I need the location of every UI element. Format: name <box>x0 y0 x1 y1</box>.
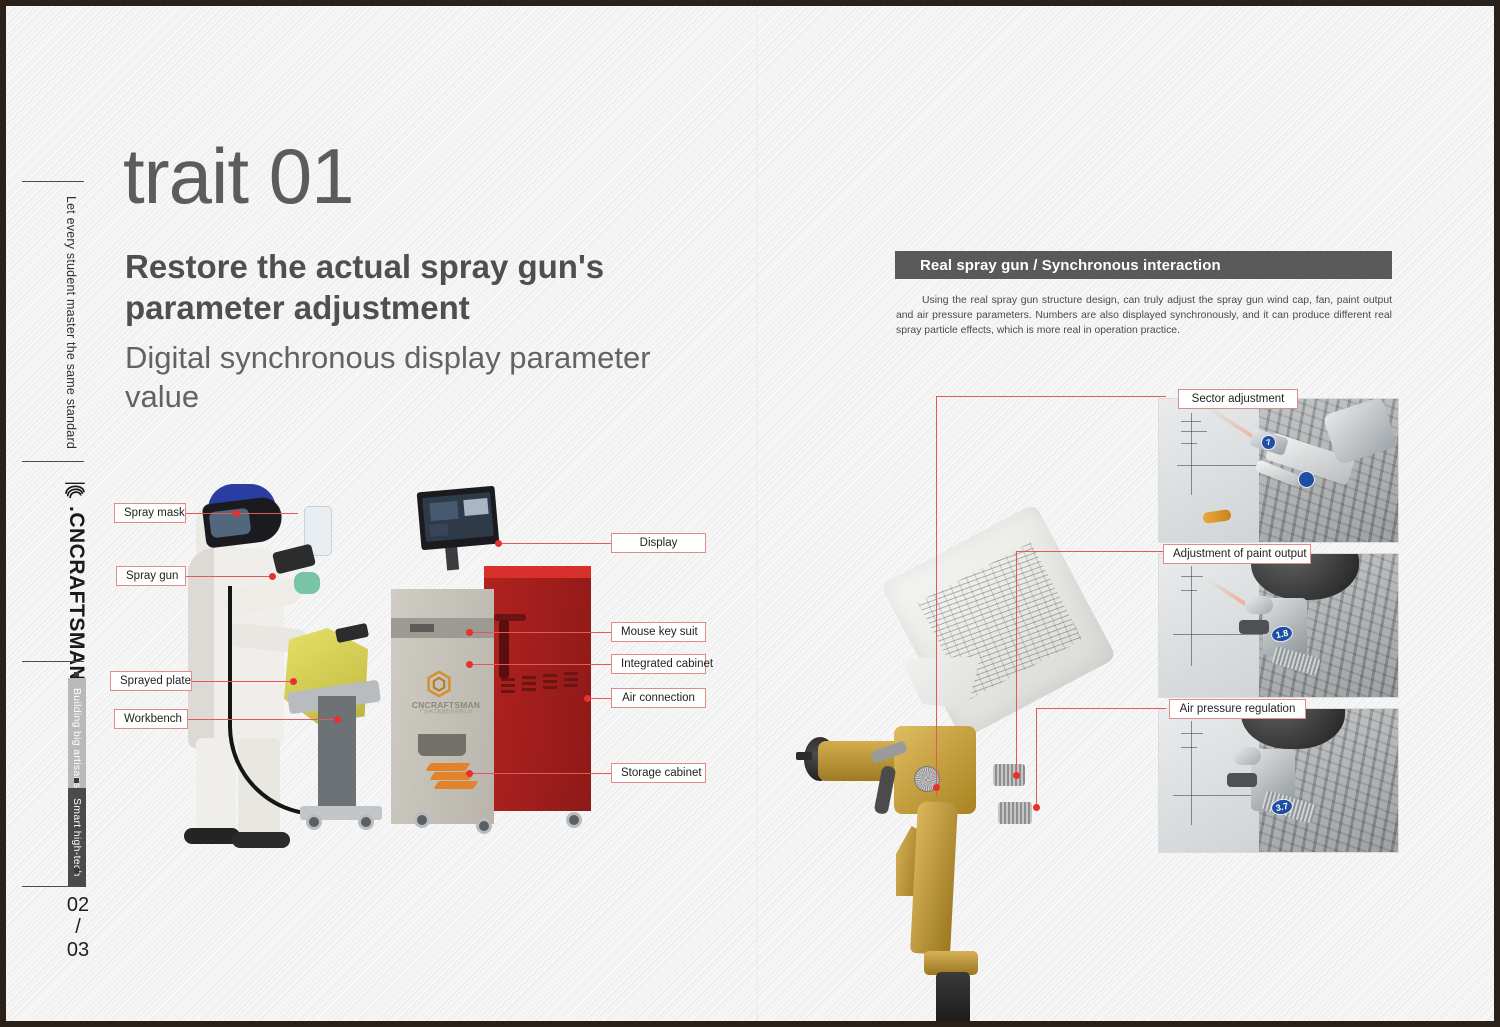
workbench-caster-right <box>358 814 374 830</box>
hotspot-paint-output <box>1013 772 1020 779</box>
leader-sector-vertical <box>936 396 937 796</box>
sidebar-tagline: Let every student master the same standa… <box>64 196 78 449</box>
callout-integrated-cabinet[interactable]: Integrated cabinet <box>611 654 706 674</box>
hotspot-spray-mask <box>233 510 240 517</box>
cabinet-caster-3 <box>566 812 582 828</box>
storage-cabinet-body <box>484 566 591 811</box>
cabinet-vent <box>564 684 578 687</box>
leader-air-pressure-vertical <box>1036 708 1037 810</box>
page-number-current: 02 <box>58 894 98 916</box>
panel-scale-mark <box>1181 576 1203 577</box>
hotspot-air-connection <box>584 695 591 702</box>
panel-scale-mark <box>1181 747 1197 748</box>
leader-mouse-key-suit <box>470 632 616 633</box>
callout-workbench[interactable]: Workbench <box>114 709 188 729</box>
cabinet-chevron <box>426 763 471 771</box>
cabinet-caster-2 <box>476 818 492 834</box>
section-header-bar: Real spray gun / Synchronous interaction <box>895 251 1392 279</box>
sidebar-brand-name: .CNCRAFTSMAN <box>64 506 88 681</box>
air-pressure-fitting <box>998 802 1032 824</box>
brochure-page: Let every student master the same standa… <box>0 0 1500 1027</box>
panel-gun-trigger <box>1227 773 1257 787</box>
hotspot-integrated-cabinet <box>466 661 473 668</box>
hotspot-air-pressure <box>1033 804 1040 811</box>
panel-scale-vertical <box>1191 566 1192 666</box>
panel-scale-horizontal <box>1177 465 1263 466</box>
handheld-spray-gun <box>272 543 316 574</box>
cabinet-brand-subtext: 广东中工智能科技有限公司 <box>408 709 484 715</box>
leader-workbench <box>186 719 338 720</box>
detail-panel-sector-adjustment: 7 <box>1158 398 1399 543</box>
cabinet-vent <box>501 684 515 687</box>
fan-adjust-fitting <box>993 764 1025 786</box>
operator-shoe-right <box>232 832 290 848</box>
spray-gun-nozzle-tip <box>796 752 812 760</box>
cabinet-vent <box>543 680 557 683</box>
callout-paint-output[interactable]: Adjustment of paint output <box>1163 544 1311 564</box>
monitor-screen-region-c <box>430 523 449 537</box>
cabinet-vent <box>543 674 557 677</box>
page-number-total: 03 <box>58 939 98 961</box>
panel-scale-mark <box>1181 733 1203 734</box>
cabinet-vent <box>564 678 578 681</box>
hotspot-sprayed-plate <box>290 678 297 685</box>
monitor-screen-region-b <box>463 498 488 516</box>
badge-tick-bottom <box>74 868 79 873</box>
cabinet-caster-1 <box>414 812 430 828</box>
callout-spray-mask[interactable]: Spray mask <box>114 503 186 523</box>
detail-panel-air-pressure: 3.7 <box>1158 708 1399 853</box>
page-title: Restore the actual spray gun's parameter… <box>125 247 685 328</box>
page-number: 02 / 03 <box>58 894 98 961</box>
badge-tick-top <box>74 672 79 677</box>
hotspot-display <box>495 540 502 547</box>
hotspot-storage-cabinet <box>466 770 473 777</box>
sidebar-divider-bottom <box>22 886 84 887</box>
callout-display[interactable]: Display <box>611 533 706 553</box>
cabinet-vent <box>501 678 515 681</box>
cabinet-logo-icon <box>426 670 452 698</box>
leader-display <box>499 543 616 544</box>
cabinet-vent <box>522 688 536 691</box>
cabinet-vent <box>522 682 536 685</box>
sidebar-divider-top <box>22 181 84 182</box>
panel-gun-cap <box>1245 596 1273 614</box>
panel-scale-horizontal <box>1173 634 1265 635</box>
badge-tick-mid <box>74 778 79 783</box>
callout-air-pressure[interactable]: Air pressure regulation <box>1169 699 1306 719</box>
mouse-key-suit-slot <box>410 624 434 632</box>
leader-sprayed-plate <box>190 681 293 682</box>
hotspot-spray-gun <box>269 573 276 580</box>
leader-sector-horizontal <box>936 396 1166 397</box>
callout-storage-cabinet[interactable]: Storage cabinet <box>611 763 706 783</box>
hotspot-mouse-key-suit <box>466 629 473 636</box>
left-sidebar: Let every student master the same standa… <box>14 6 106 1021</box>
workbench-column <box>318 696 356 812</box>
panel-scale-mark <box>1181 421 1201 422</box>
sidebar-divider-mid <box>22 461 84 462</box>
leader-spray-gun <box>186 576 274 577</box>
hotspot-workbench <box>334 716 341 723</box>
panel-scale-mark <box>1181 431 1207 432</box>
cabinet-vent <box>501 690 515 693</box>
cabinet-handle-top <box>494 614 526 621</box>
cabinet-vent <box>564 672 578 675</box>
callout-air-connection[interactable]: Air connection <box>611 688 706 708</box>
leader-air-pressure-horizontal <box>1036 708 1166 709</box>
spray-gun-hose-connector <box>936 972 970 1027</box>
page-eyebrow: trait 01 <box>123 137 353 215</box>
spray-gun-grip <box>910 801 958 955</box>
cabinet-vent <box>522 676 536 679</box>
cabinet-chevron <box>434 781 479 789</box>
panel-gun-cap <box>1233 747 1261 765</box>
workbench-caster-left <box>306 814 322 830</box>
cnc-swirl-logo-icon <box>62 476 88 502</box>
panel-scale-vertical <box>1191 413 1192 495</box>
integrated-cabinet-band <box>391 618 494 638</box>
leader-spray-mask <box>182 513 298 514</box>
operator-leg-left <box>196 738 236 838</box>
callout-mouse-key-suit[interactable]: Mouse key suit <box>611 622 706 642</box>
callout-spray-gun[interactable]: Spray gun <box>116 566 186 586</box>
cabinet-tray <box>418 734 466 756</box>
leader-storage-cabinet <box>470 773 616 774</box>
operator-coverall-shade <box>188 548 214 748</box>
leader-integrated-cabinet <box>470 664 616 665</box>
callout-sprayed-plate[interactable]: Sprayed plate <box>110 671 192 691</box>
sidebar-divider-low <box>22 661 84 662</box>
callout-sector-adjustment[interactable]: Sector adjustment <box>1178 389 1298 409</box>
cabinet-handle <box>499 620 509 678</box>
storage-cabinet-top <box>484 566 591 578</box>
page-number-separator: / <box>58 916 98 938</box>
panel-gun-trigger <box>1239 620 1269 634</box>
leader-paint-output-vertical <box>1016 551 1017 779</box>
panel-scale-mark <box>1181 443 1197 444</box>
leader-paint-output-horizontal <box>1016 551 1166 552</box>
detail-panel-paint-output: 1.8 <box>1158 553 1399 698</box>
cabinet-vent <box>543 686 557 689</box>
panel-scale-vertical <box>1191 721 1192 825</box>
hotspot-sector-adjustment <box>933 784 940 791</box>
page-fold-line <box>756 6 758 1021</box>
monitor-screen-region-a <box>429 501 458 521</box>
section-body-text: Using the real spray gun structure desig… <box>896 294 1392 338</box>
page-subtitle: Digital synchronous display parameter va… <box>125 339 685 417</box>
panel-scale-mark <box>1181 590 1197 591</box>
